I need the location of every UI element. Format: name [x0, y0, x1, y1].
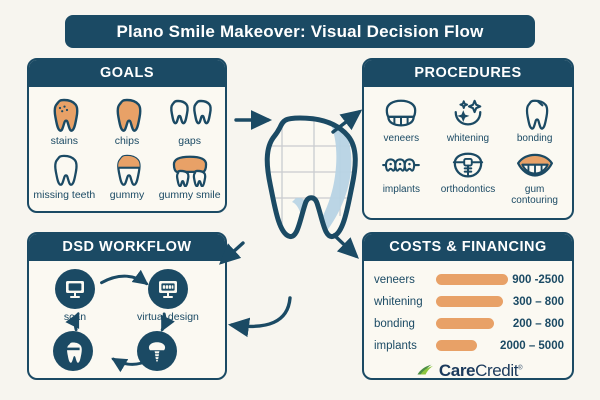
- panel-costs-header: COSTS & FINANCING: [364, 234, 572, 261]
- procedure-item-veneers[interactable]: veneers: [368, 95, 435, 145]
- panel-procedures: PROCEDURES veneers: [362, 58, 574, 220]
- cost-bar-zone-veneers: 900 -2500: [436, 269, 564, 291]
- cost-value-whitening: 300 – 800: [513, 296, 564, 308]
- cost-row-implants[interactable]: implants 2000 – 5000: [374, 335, 564, 357]
- cost-label-implants: implants: [374, 340, 436, 352]
- implants-bridge-icon: [378, 146, 424, 182]
- goal-item-gaps[interactable]: gaps: [158, 95, 221, 147]
- goal-item-gummy-smile[interactable]: gummy smile: [158, 149, 221, 201]
- dsd-label-virtual-design: virtual design: [137, 312, 199, 323]
- procedure-item-orthodontics[interactable]: orthodontics: [435, 146, 502, 206]
- implant-crown-icon: [137, 331, 177, 371]
- procedure-label-implants: implants: [383, 185, 420, 196]
- procedure-item-gum-contouring[interactable]: gum contouring: [501, 146, 568, 206]
- cost-label-veneers: veneers: [374, 274, 436, 286]
- goal-label-gaps: gaps: [178, 136, 201, 147]
- carecredit-brand-light: Credit: [475, 361, 518, 380]
- gum-contouring-icon: [513, 146, 557, 182]
- panel-procedures-header: PROCEDURES: [364, 60, 572, 87]
- bonding-tooth-icon: [518, 95, 552, 131]
- procedure-item-whitening[interactable]: whitening: [435, 95, 502, 145]
- cost-label-bonding: bonding: [374, 318, 436, 330]
- page-title-text: Plano Smile Makeover: Visual Decision Fl…: [116, 22, 483, 42]
- tooth-gap-icon: [167, 95, 213, 133]
- dsd-label-mockup: mockup/try-in: [59, 379, 122, 381]
- cost-bar-zone-bonding: 200 – 800: [436, 313, 564, 335]
- cost-rows: veneers 900 -2500 whitening 300 – 800 bo…: [364, 261, 572, 381]
- goal-label-chips: chips: [115, 136, 140, 147]
- cost-bar-veneers: [436, 274, 508, 285]
- carecredit-leaf-icon: [416, 361, 436, 381]
- panel-goals: GOALS stains: [27, 58, 227, 213]
- dsd-node-final-restoration[interactable]: x: [137, 331, 177, 381]
- monitor-design-icon: [148, 269, 188, 309]
- dsd-flow-diagram: scan: [33, 267, 221, 381]
- procedure-item-bonding[interactable]: bonding: [501, 95, 568, 145]
- cost-value-implants: 2000 – 5000: [500, 340, 564, 352]
- procedure-item-implants[interactable]: implants: [368, 146, 435, 206]
- goal-item-chips[interactable]: chips: [96, 95, 159, 147]
- procedure-label-whitening: whitening: [447, 134, 489, 145]
- panel-dsd-workflow: DSD WORKFLOW: [27, 232, 227, 380]
- cost-label-whitening: whitening: [374, 296, 436, 308]
- panel-dsd-body: scan: [29, 261, 225, 381]
- cost-row-veneers[interactable]: veneers 900 -2500: [374, 269, 564, 291]
- cost-bar-zone-whitening: 300 – 800: [436, 291, 564, 313]
- orthodontics-braces-icon: [448, 146, 488, 182]
- page-title: Plano Smile Makeover: Visual Decision Fl…: [65, 15, 535, 48]
- panel-goals-header: GOALS: [29, 60, 225, 87]
- monitor-scan-icon: [55, 269, 95, 309]
- infographic-canvas: Plano Smile Makeover: Visual Decision Fl…: [0, 0, 600, 400]
- procedures-icon-grid: veneers whitening: [368, 93, 568, 207]
- dsd-node-scan[interactable]: scan: [55, 269, 95, 323]
- carecredit-logo[interactable]: CareCredit®: [374, 361, 564, 381]
- tooth-chipped-icon: [110, 95, 144, 133]
- dsd-label-final-restoration: final restoration: [124, 379, 196, 381]
- central-tooth-graphic: [236, 112, 364, 247]
- goal-item-missing-teeth[interactable]: missing teeth: [33, 149, 96, 201]
- goal-label-gummy-smile: gummy smile: [159, 190, 221, 201]
- dsd-node-mockup[interactable]: x: [53, 331, 93, 381]
- goals-icon-grid: stains chips: [33, 93, 221, 201]
- tooth-gummy-icon: [110, 149, 144, 187]
- dsd-label-scan: scan: [64, 312, 86, 323]
- cost-value-veneers: 900 -2500: [512, 274, 564, 286]
- panel-goals-body: stains chips: [29, 87, 225, 205]
- procedure-label-veneers: veneers: [384, 134, 420, 145]
- gummy-smile-icon: [167, 149, 213, 187]
- procedure-label-bonding: bonding: [517, 134, 553, 145]
- tooth-stains-icon: [47, 95, 81, 133]
- goal-label-gummy: gummy: [110, 190, 144, 201]
- cost-bar-zone-implants: 2000 – 5000: [436, 335, 564, 357]
- goal-label-stains: stains: [51, 136, 78, 147]
- procedure-label-orthodontics: orthodontics: [441, 185, 495, 196]
- tooth-missing-icon: [47, 149, 81, 187]
- goal-item-stains[interactable]: stains: [33, 95, 96, 147]
- cost-bar-implants: [436, 340, 477, 351]
- carecredit-wordmark: CareCredit®: [439, 361, 522, 380]
- procedure-label-gum-contouring: gum contouring: [501, 185, 568, 206]
- goal-item-gummy[interactable]: gummy: [96, 149, 159, 201]
- panel-procedures-body: veneers whitening: [364, 87, 572, 211]
- dsd-node-virtual-design[interactable]: virtual design: [137, 269, 199, 323]
- carecredit-trademark: ®: [518, 365, 522, 371]
- mockup-tooth-icon: [53, 331, 93, 371]
- panel-dsd-header: DSD WORKFLOW: [29, 234, 225, 261]
- veneers-icon: [380, 95, 422, 131]
- goal-label-missing-teeth: missing teeth: [33, 190, 95, 201]
- cost-row-bonding[interactable]: bonding 200 – 800: [374, 313, 564, 335]
- arrow-costs-to-dsd: [232, 298, 290, 326]
- cost-row-whitening[interactable]: whitening 300 – 800: [374, 291, 564, 313]
- dsd-bottom-labels: mockup/try-in final restoration: [33, 379, 221, 381]
- cost-bar-whitening: [436, 296, 503, 307]
- cost-value-bonding: 200 – 800: [513, 318, 564, 330]
- carecredit-brand-bold: Care: [439, 361, 475, 380]
- panel-costs-financing: COSTS & FINANCING veneers 900 -2500 whit…: [362, 232, 574, 380]
- whitening-sparkle-icon: [447, 95, 489, 131]
- cost-bar-bonding: [436, 318, 494, 329]
